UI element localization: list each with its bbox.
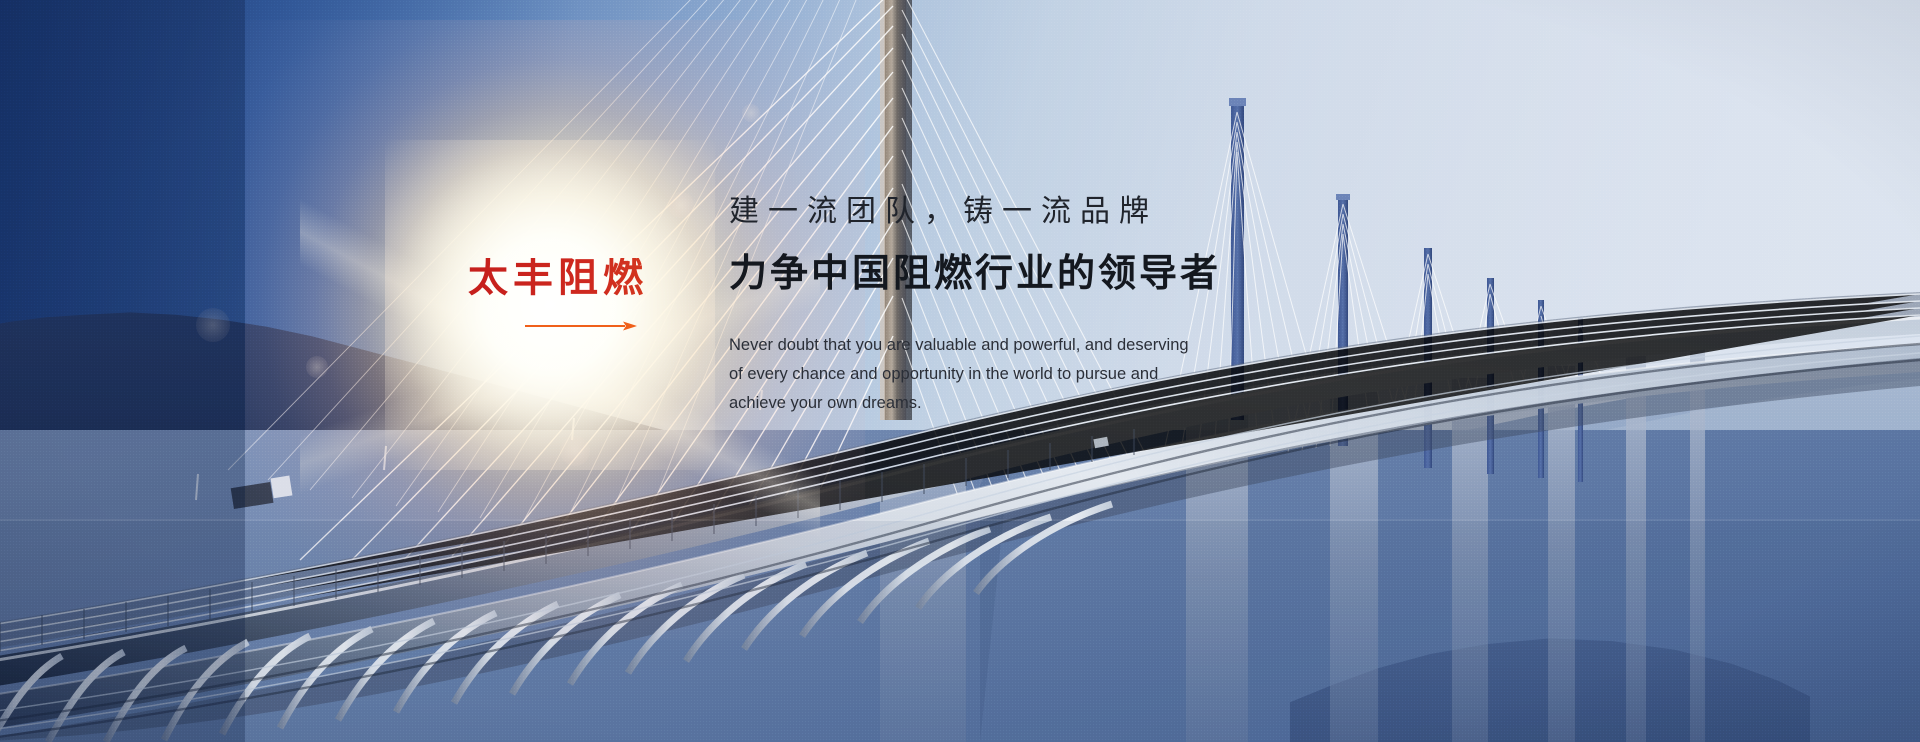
arrow-right-icon-svg [525,320,637,332]
headline-line-2: 力争中国阻燃行业的领导者 [729,249,1389,298]
subtext-line-1: Never doubt that you are valuable and po… [729,331,1309,360]
banner-content: 太丰阻燃 建一流团队，铸一流品牌 力争中国阻燃行业的领导者 Never doub… [0,0,1920,742]
subtext-line-2: of every chance and opportunity in the w… [729,360,1309,389]
brand-logo[interactable]: 太丰阻燃 [468,258,698,332]
brand-logo-text: 太丰阻燃 [468,258,698,298]
headline: 建一流团队，铸一流品牌 力争中国阻燃行业的领导者 [729,193,1389,298]
headline-line-1: 建一流团队，铸一流品牌 [729,193,1389,231]
hero-banner: 太丰阻燃 建一流团队，铸一流品牌 力争中国阻燃行业的领导者 Never doub… [0,0,1920,742]
subtext-line-3: achieve your own dreams. [729,389,1309,418]
subtext: Never doubt that you are valuable and po… [729,331,1309,418]
arrow-right-icon [525,320,637,332]
